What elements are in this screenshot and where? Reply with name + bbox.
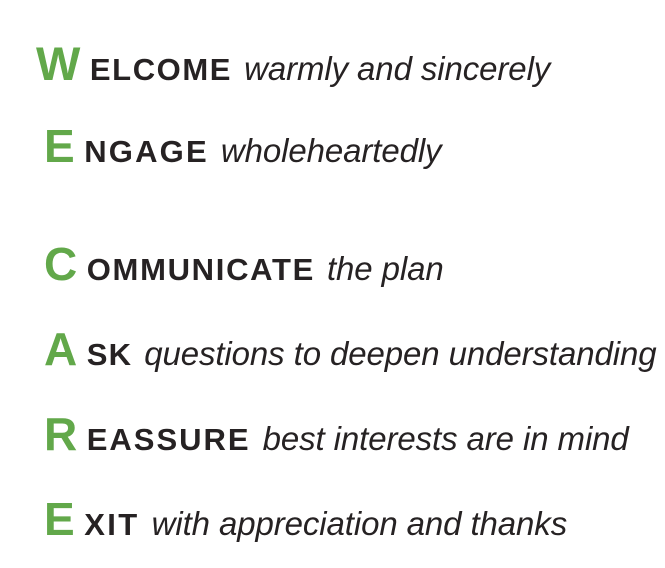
keyword-remainder: SK [87,339,132,370]
lead-capital-letter: E [44,496,75,542]
acronym-line-reassure: R EASSURE best interests are in mind [44,411,629,457]
keyword-remainder: NGAGE [84,136,209,167]
keyword-remainder: ELCOME [90,54,232,85]
keyword-phrase: best interests are in mind [263,422,629,455]
lead-capital-letter: E [44,123,75,169]
acronym-line-welcome: W ELCOME warmly and sincerely [36,40,550,87]
lead-capital-letter: R [44,411,78,457]
keyword-phrase: wholeheartedly [221,134,442,167]
lead-capital-letter: C [44,241,78,287]
keyword-phrase: with appreciation and thanks [152,507,567,540]
lead-capital-letter: W [36,40,81,87]
keyword-remainder: OMMUNICATE [87,254,315,285]
keyword-phrase: the plan [327,252,444,285]
keyword-phrase: questions to deepen understanding [144,337,656,370]
acronym-line-exit: E XIT with appreciation and thanks [44,496,567,542]
keyword-phrase: warmly and sincerely [244,52,550,85]
keyword-remainder: XIT [84,509,139,540]
acronym-panel: W ELCOME warmly and sincerely E NGAGE wh… [0,0,665,568]
keyword-remainder: EASSURE [87,424,251,455]
lead-capital-letter: A [44,326,78,372]
acronym-line-engage: E NGAGE wholeheartedly [44,123,441,169]
acronym-line-communicate: C OMMUNICATE the plan [44,241,444,287]
acronym-line-ask: A SK questions to deepen understanding [44,326,656,372]
